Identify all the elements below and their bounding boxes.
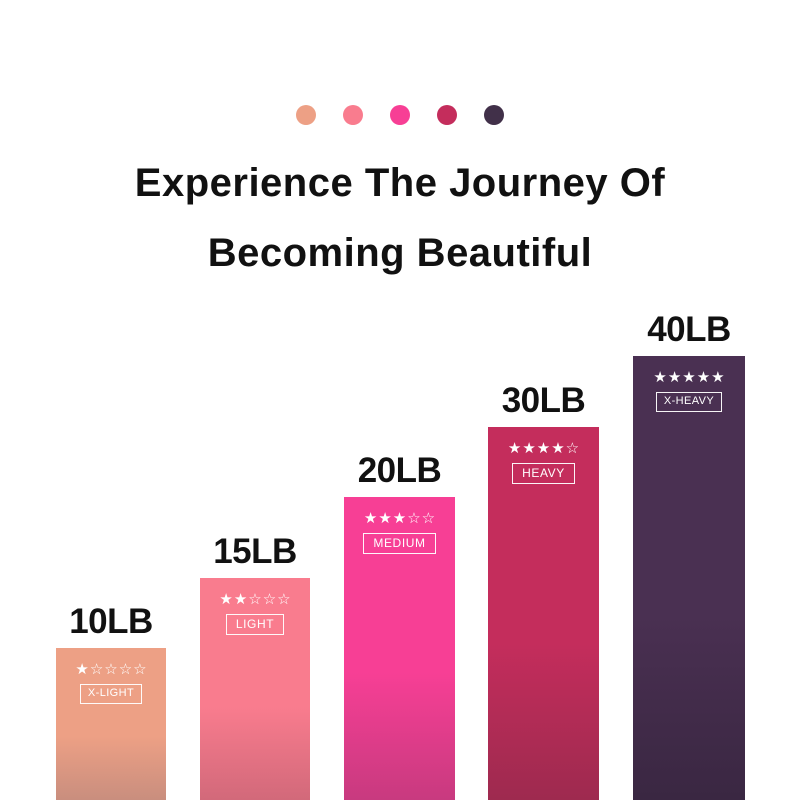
tier-badge: X-HEAVY — [656, 392, 722, 412]
bar-column-10lb[interactable]: 10LB★☆☆☆☆X-LIGHT — [56, 604, 166, 800]
tier-badge: MEDIUM — [363, 533, 435, 554]
star-rating: ★★★★★ — [653, 370, 724, 385]
tier-badge: LIGHT — [226, 614, 284, 635]
bar-weight-label: 40LB — [647, 312, 731, 347]
infographic-canvas: Experience The Journey Of Becoming Beaut… — [0, 0, 800, 800]
bar-column-20lb[interactable]: 20LB★★★☆☆MEDIUM — [344, 453, 455, 800]
star-rating: ★★★★☆ — [508, 441, 579, 456]
star-filled-icon: ★ — [364, 511, 377, 526]
tier-badge: X-LIGHT — [80, 684, 142, 704]
bar-15lb[interactable]: ★★☆☆☆LIGHT — [200, 578, 310, 800]
star-empty-icon: ☆ — [133, 662, 146, 677]
bar-weight-label: 30LB — [502, 383, 586, 418]
star-empty-icon: ☆ — [248, 592, 261, 607]
star-filled-icon: ★ — [682, 370, 695, 385]
bar-column-15lb[interactable]: 15LB★★☆☆☆LIGHT — [200, 534, 310, 800]
star-rating: ★★☆☆☆ — [219, 592, 290, 607]
star-filled-icon: ★ — [697, 370, 710, 385]
star-empty-icon: ☆ — [104, 662, 117, 677]
star-empty-icon: ☆ — [263, 592, 276, 607]
bar-20lb[interactable]: ★★★☆☆MEDIUM — [344, 497, 455, 800]
star-filled-icon: ★ — [508, 441, 521, 456]
bar-column-30lb[interactable]: 30LB★★★★☆HEAVY — [488, 383, 599, 800]
bar-weight-label: 10LB — [69, 604, 153, 639]
star-empty-icon: ☆ — [407, 511, 420, 526]
star-empty-icon: ☆ — [422, 511, 435, 526]
bar-10lb[interactable]: ★☆☆☆☆X-LIGHT — [56, 648, 166, 800]
bar-weight-label: 20LB — [358, 453, 442, 488]
star-empty-icon: ☆ — [119, 662, 132, 677]
bar-column-40lb[interactable]: 40LB★★★★★X-HEAVY — [633, 312, 745, 800]
star-filled-icon: ★ — [219, 592, 232, 607]
star-filled-icon: ★ — [378, 511, 391, 526]
star-filled-icon: ★ — [75, 662, 88, 677]
star-filled-icon: ★ — [393, 511, 406, 526]
bar-weight-label: 15LB — [213, 534, 297, 569]
resistance-band-bar-chart: 10LB★☆☆☆☆X-LIGHT15LB★★☆☆☆LIGHT20LB★★★☆☆M… — [0, 0, 800, 800]
star-filled-icon: ★ — [711, 370, 724, 385]
star-filled-icon: ★ — [668, 370, 681, 385]
star-empty-icon: ☆ — [90, 662, 103, 677]
tier-badge: HEAVY — [512, 463, 575, 484]
star-filled-icon: ★ — [522, 441, 535, 456]
star-rating: ★★★☆☆ — [364, 511, 435, 526]
star-filled-icon: ★ — [551, 441, 564, 456]
star-rating: ★☆☆☆☆ — [75, 662, 146, 677]
bar-30lb[interactable]: ★★★★☆HEAVY — [488, 427, 599, 800]
star-filled-icon: ★ — [653, 370, 666, 385]
star-empty-icon: ☆ — [277, 592, 290, 607]
star-filled-icon: ★ — [537, 441, 550, 456]
star-empty-icon: ☆ — [566, 441, 579, 456]
star-filled-icon: ★ — [234, 592, 247, 607]
bar-40lb[interactable]: ★★★★★X-HEAVY — [633, 356, 745, 800]
